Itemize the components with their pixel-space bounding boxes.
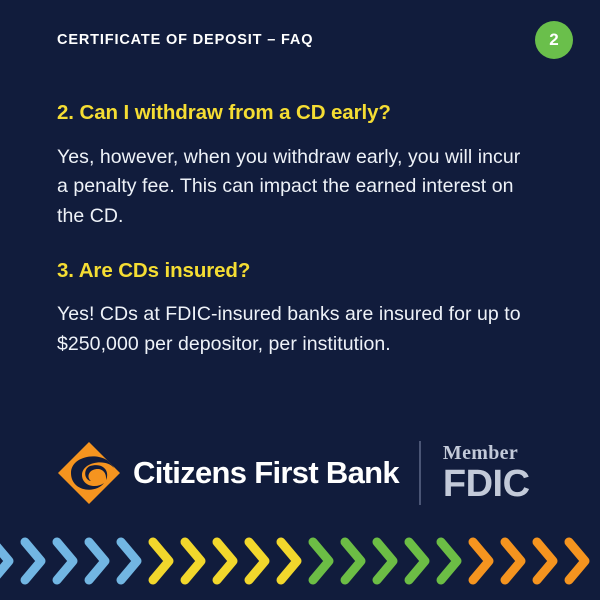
footer-logo-band: Citizens First Bank Member FDIC [0, 425, 600, 520]
bank-wordmark: Citizens First Bank [133, 455, 399, 491]
slide-header: CERTIFICATE OF DEPOSIT – FAQ 2 [0, 0, 600, 80]
chevron-icon [402, 534, 434, 588]
faq-item: 3. Are CDs insured? Yes! CDs at FDIC-ins… [57, 258, 547, 360]
chevron-icon [530, 534, 562, 588]
page-title: CERTIFICATE OF DEPOSIT – FAQ [57, 32, 313, 48]
chevron-icon [242, 534, 274, 588]
chevron-icon [178, 534, 210, 588]
chevron-icon [146, 534, 178, 588]
fdic-member-label: Member [443, 443, 518, 463]
faq-answer: Yes! CDs at FDIC-insured banks are insur… [57, 300, 532, 359]
chevron-icon [82, 534, 114, 588]
faq-slide: CERTIFICATE OF DEPOSIT – FAQ 2 2. Can I … [0, 0, 600, 600]
faq-list: 2. Can I withdraw from a CD early? Yes, … [57, 100, 547, 359]
chevron-icon [370, 534, 402, 588]
page-number-badge: 2 [535, 21, 573, 59]
fdic-acronym-label: FDIC [443, 465, 530, 503]
chevron-strip [0, 522, 600, 600]
member-fdic-logo: Member FDIC [443, 443, 530, 503]
faq-question: 2. Can I withdraw from a CD early? [57, 100, 547, 126]
faq-question: 3. Are CDs insured? [57, 258, 547, 284]
chevron-icon [466, 534, 498, 588]
chevron-icon [50, 534, 82, 588]
chevron-icon [434, 534, 466, 588]
faq-answer: Yes, however, when you withdraw early, y… [57, 143, 532, 232]
logo-divider [419, 441, 421, 505]
chevron-icon [338, 534, 370, 588]
bank-logo: Citizens First Bank [58, 442, 399, 504]
chevron-icon [18, 534, 50, 588]
citizens-first-bank-mark-icon [58, 442, 120, 504]
chevron-icon [0, 534, 18, 588]
chevron-icon [498, 534, 530, 588]
chevron-icon [562, 534, 594, 588]
chevron-icon [274, 534, 306, 588]
chevron-icon [114, 534, 146, 588]
chevron-icon [306, 534, 338, 588]
bank-wordmark-text: Citizens First Bank [133, 455, 399, 490]
faq-item: 2. Can I withdraw from a CD early? Yes, … [57, 100, 547, 232]
chevron-icon [210, 534, 242, 588]
